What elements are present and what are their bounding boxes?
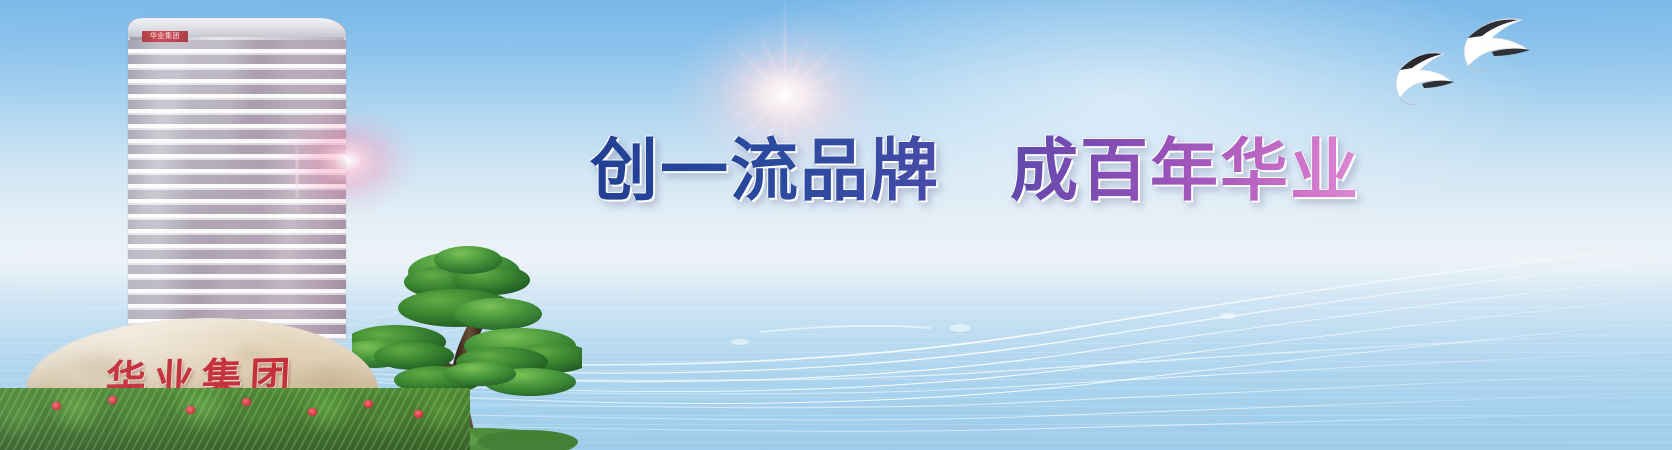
hedge-flower — [108, 396, 117, 404]
hedge-flower — [414, 410, 423, 418]
seagull-upper — [1464, 19, 1530, 71]
slogan-block: 创一流品牌 成百年华业 — [590, 128, 1360, 214]
tower-glare-streak — [296, 130, 298, 220]
hedge-flower — [364, 400, 373, 408]
flare-ray — [731, 94, 839, 96]
hedge-flower — [242, 398, 251, 406]
seagull-lower — [1396, 53, 1454, 105]
seagulls-group — [1376, 8, 1556, 118]
company-hero-banner: 华业集团 — [0, 0, 1672, 450]
hedge-flower — [52, 402, 61, 410]
slogan-text: 创一流品牌 成百年华业 — [590, 128, 1360, 214]
tower-body: 华业集团 — [128, 18, 346, 340]
hedge-flower — [308, 408, 317, 416]
hedge-flower — [186, 406, 195, 414]
tower-balcony-bands — [128, 34, 346, 340]
office-tower: 华业集团 — [128, 18, 346, 340]
tower-rooftop-sign: 华业集团 — [142, 31, 188, 42]
green-hedge — [0, 388, 470, 450]
hedge-leaf-texture — [0, 388, 470, 450]
